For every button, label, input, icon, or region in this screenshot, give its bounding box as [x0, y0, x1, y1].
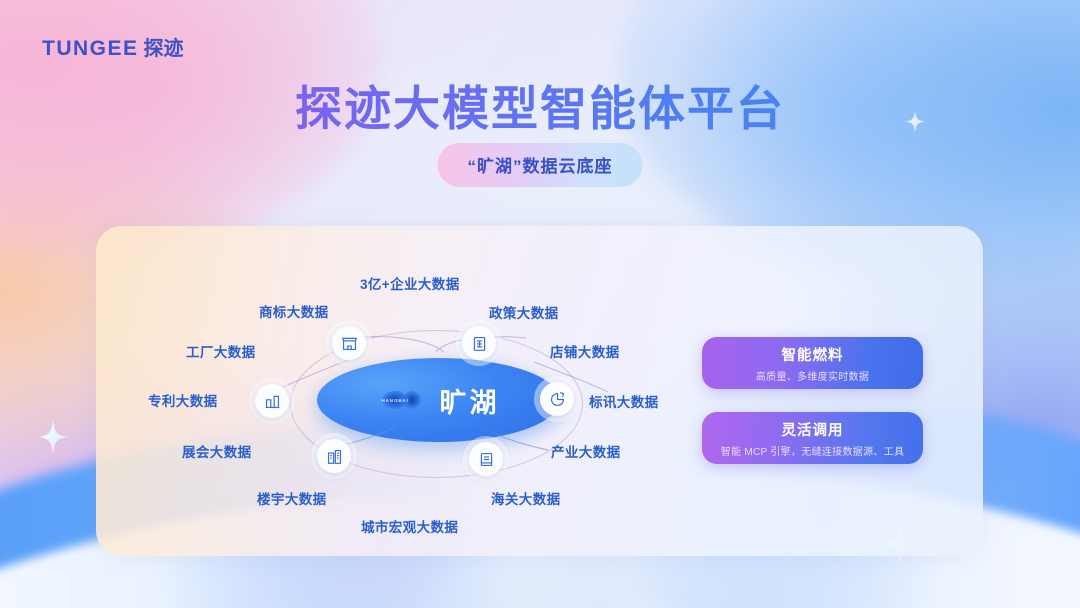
building-icon[interactable] [462, 326, 496, 360]
store-icon[interactable] [332, 326, 366, 360]
book-icon[interactable] [469, 442, 503, 476]
brand-logo-mark: TUNGEE [42, 37, 139, 61]
data-label: 商标大数据 [259, 301, 329, 321]
feature-card-title: 灵活调用 [782, 419, 844, 440]
data-label: 工厂大数据 [186, 341, 256, 361]
data-label: 产业大数据 [551, 441, 621, 461]
data-label: 专利大数据 [148, 390, 218, 410]
feature-card-subtitle: 智能 MCP 引擎，无缝连接数据源、工具 [721, 443, 905, 458]
feature-card-subtitle: 高质量、多维度实时数据 [756, 368, 869, 383]
feature-card-title: 智能燃料 [782, 344, 844, 365]
bar-chart-icon[interactable] [255, 384, 289, 418]
data-label: 店铺大数据 [550, 341, 620, 361]
data-label: 标讯大数据 [589, 391, 659, 411]
feature-card-fuel[interactable]: 智能燃料 高质量、多维度实时数据 [702, 337, 923, 389]
subtitle-badge: “旷湖”数据云底座 [438, 143, 643, 187]
data-label: 展会大数据 [182, 441, 252, 461]
data-label: 城市宏观大数据 [361, 516, 458, 536]
feature-card-mcp[interactable]: 灵活调用 智能 MCP 引擎，无缝连接数据源、工具 [702, 412, 923, 464]
data-label: 楼宇大数据 [257, 488, 327, 508]
data-lake-diagram: HANGHAI 旷湖 [96, 226, 983, 556]
data-label: 政策大数据 [489, 302, 559, 322]
sparkle-icon [38, 420, 68, 454]
data-label: 海关大数据 [491, 488, 561, 508]
offices-icon[interactable] [317, 439, 351, 473]
brand-logo-cn: 探迹 [144, 32, 184, 61]
page-title: 探迹大模型智能体平台 [0, 70, 1080, 139]
pie-share-icon[interactable] [540, 382, 574, 416]
brand-logo: TUNGEE 探迹 [42, 32, 184, 61]
data-label: 3亿+企业大数据 [360, 273, 460, 293]
